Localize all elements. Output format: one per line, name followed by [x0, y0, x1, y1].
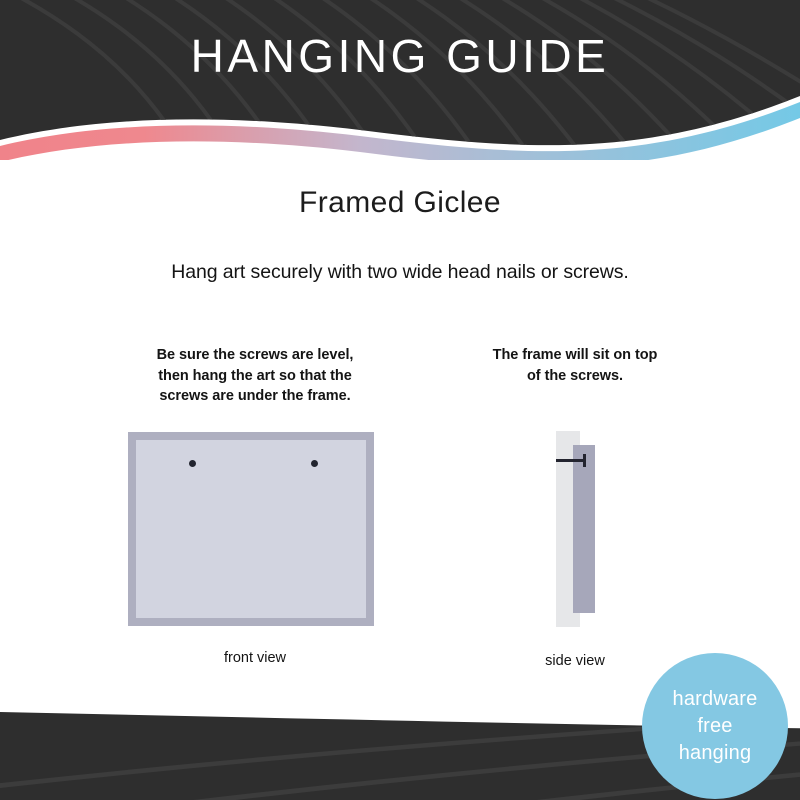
front-view-frame-diagram	[128, 432, 374, 626]
screw-dot-right-icon	[311, 460, 318, 467]
badge-line-1: hardware	[673, 686, 758, 713]
front-view-caption: Be sure the screws are level, then hang …	[100, 345, 410, 407]
hanging-guide-page: HANGING GUIDE Framed Giclee Hang art sec…	[0, 0, 800, 800]
badge-line-3: hanging	[679, 740, 752, 767]
page-title: HANGING GUIDE	[0, 28, 800, 84]
product-title: Framed Giclee	[0, 186, 800, 220]
side-view-caption: The frame will sit on top of the screws.	[430, 345, 720, 386]
header-band: HANGING GUIDE	[0, 0, 800, 160]
front-caption-line-2: then hang the art so that the	[100, 366, 410, 387]
front-view-frame-interior	[136, 440, 366, 618]
front-caption-line-1: Be sure the screws are level,	[100, 345, 410, 366]
screw-dot-left-icon	[189, 460, 196, 467]
side-view-panel: The frame will sit on top of the screws.	[430, 345, 720, 386]
intro-instruction: Hang art securely with two wide head nai…	[0, 261, 800, 284]
front-caption-line-3: screws are under the frame.	[100, 386, 410, 407]
side-caption-line-1: The frame will sit on top	[430, 345, 720, 366]
front-view-label: front view	[100, 650, 410, 666]
hardware-free-hanging-badge: hardware free hanging	[642, 653, 788, 799]
side-view-screw-shaft-icon	[556, 459, 585, 462]
side-view-frame	[573, 445, 595, 613]
side-view-screw-head-icon	[583, 454, 586, 467]
front-view-panel: Be sure the screws are level, then hang …	[100, 345, 410, 407]
badge-line-2: free	[697, 713, 732, 740]
side-caption-line-2: of the screws.	[430, 366, 720, 387]
